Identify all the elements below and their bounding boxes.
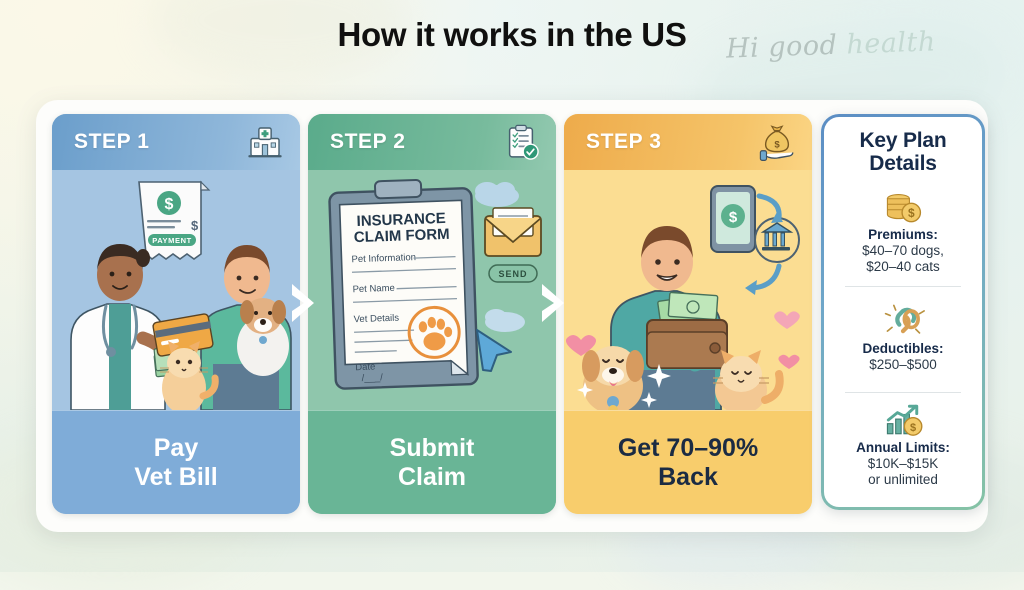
step-3-label: STEP 3 (586, 130, 662, 154)
annual-limits-value-line-2: or unlimited (868, 472, 938, 488)
step-connector-arrow-1 (288, 280, 328, 326)
key-plan-item-deductibles: Deductibles: $250–$500 (834, 286, 972, 393)
broken-chain-icon (881, 304, 925, 338)
envelope-send-graphic: SEND (485, 208, 541, 282)
step-3-illustration: $ (564, 170, 812, 410)
step-1-label: STEP 1 (74, 130, 150, 154)
step-1-caption-line-1: Pay (154, 434, 198, 463)
step-2-label: STEP 2 (330, 130, 406, 154)
key-plan-title-line-2: Details (859, 152, 946, 175)
cloud-icon (475, 182, 519, 207)
step-card-1[interactable]: STEP 1 (52, 114, 300, 514)
smartphone-dollar-icon: $ (711, 186, 755, 252)
svg-text:$: $ (165, 196, 174, 213)
bank-icon (755, 218, 799, 262)
step-3-caption-line-2: Back (658, 463, 718, 492)
step-3-header: STEP 3 $ (564, 114, 812, 170)
svg-text:PAYMENT: PAYMENT (152, 236, 192, 245)
key-plan-title-line-1: Key Plan (859, 129, 946, 152)
svg-text:Pet Information: Pet Information (351, 252, 416, 265)
svg-text:Pet Name: Pet Name (352, 283, 395, 295)
money-bag-hand-icon: $ (756, 121, 798, 163)
annual-limits-value-line-1: $10K–$15K (868, 456, 939, 472)
step-2-caption-line-1: Submit (390, 434, 475, 463)
svg-text:CLAIM FORM: CLAIM FORM (354, 226, 450, 246)
coin-stack-icon: $ (881, 190, 925, 224)
svg-text:$: $ (729, 209, 738, 226)
key-plan-item-annual-limits: $ Annual Limits: $10K–$15K or unlimited (834, 392, 972, 499)
dog-figure (582, 346, 644, 410)
growth-chart-coin-icon: $ (881, 403, 925, 437)
clipboard-check-icon (500, 121, 542, 163)
annual-limits-label: Annual Limits: (856, 440, 950, 455)
key-plan-inner: Key Plan Details $ Premiums: $40–70 dogs… (824, 117, 982, 507)
step-connector-arrow-2 (538, 280, 578, 326)
key-plan-title: Key Plan Details (859, 129, 946, 175)
clipboard-with-claim-form: INSURANCE CLAIM FORM Pet Information Pet… (329, 178, 478, 389)
step-3-caption: Get 70–90% Back (564, 410, 812, 514)
step-2-caption-line-2: Claim (398, 463, 466, 492)
step-2-header: STEP 2 (308, 114, 556, 170)
wallet-with-cash (647, 292, 727, 368)
dog-held (237, 298, 289, 376)
svg-text:$: $ (191, 218, 199, 233)
receipt-graphic: $ $ PAYMENT (139, 182, 209, 259)
premiums-value-line-1: $40–70 dogs, (862, 243, 944, 259)
svg-text:SEND: SEND (498, 269, 527, 279)
svg-text:$: $ (774, 139, 780, 150)
svg-text:$: $ (908, 206, 915, 220)
page-title: How it works in the US (0, 16, 1024, 54)
step-2-illustration: INSURANCE CLAIM FORM Pet Information Pet… (308, 170, 556, 410)
step-2-caption: Submit Claim (308, 410, 556, 514)
step-3-caption-line-1: Get 70–90% (618, 434, 758, 463)
step-1-header: STEP 1 (52, 114, 300, 170)
step-1-illustration: $ $ PAYMENT (52, 170, 300, 410)
deductibles-label: Deductibles: (862, 341, 943, 356)
svg-text:/___/: /___/ (362, 372, 384, 384)
hospital-clinic-icon (244, 121, 286, 163)
premiums-label: Premiums: (868, 227, 938, 242)
step-card-2[interactable]: STEP 2 (308, 114, 556, 514)
premiums-value-line-2: $20–40 cats (866, 259, 940, 275)
steps-container: STEP 1 (52, 114, 812, 514)
svg-text:Vet Details: Vet Details (353, 313, 399, 326)
step-1-caption: Pay Vet Bill (52, 410, 300, 514)
deductibles-value-line-1: $250–$500 (869, 357, 937, 373)
svg-text:Date: Date (355, 361, 375, 373)
key-plan-item-premiums: $ Premiums: $40–70 dogs, $20–40 cats (834, 179, 972, 286)
key-plan-details-panel[interactable]: Key Plan Details $ Premiums: $40–70 dogs… (821, 114, 985, 510)
step-1-caption-line-2: Vet Bill (134, 463, 217, 492)
step-card-3[interactable]: STEP 3 $ $ (564, 114, 812, 514)
svg-text:$: $ (910, 422, 916, 434)
